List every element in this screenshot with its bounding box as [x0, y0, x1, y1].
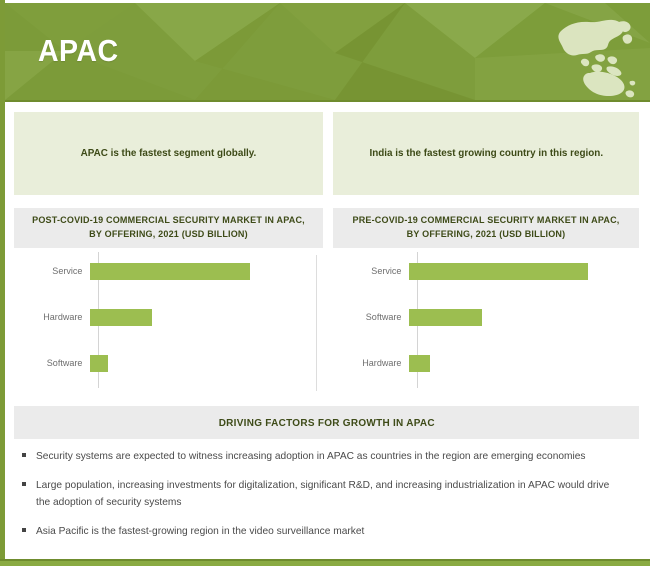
bar-label-service-pre: Service — [337, 266, 409, 277]
bar-row-software: Software — [14, 346, 314, 380]
bar-plot-hardware-pre — [409, 346, 633, 380]
bar-label-hardware-pre: Hardware — [337, 358, 409, 369]
bar-row-hardware: Hardware — [14, 300, 314, 334]
list-item-text: Asia Pacific is the fastest-growing regi… — [36, 523, 621, 539]
bar-row-service: Service — [14, 254, 314, 288]
bar-label-hardware: Hardware — [18, 312, 90, 323]
chart-title-pre-covid: PRE-COVID-19 COMMERCIAL SECURITY MARKET … — [350, 214, 622, 242]
bar-plot-service-pre — [409, 254, 633, 288]
bar-row-service-pre: Service — [333, 254, 633, 288]
frame-bottom-accent — [0, 561, 650, 566]
square-bullet-icon — [22, 482, 26, 486]
bar-service — [90, 263, 250, 280]
driving-factors-list: Security systems are expected to witness… — [14, 448, 639, 552]
bar-plot-software-pre — [409, 300, 633, 334]
list-item: Security systems are expected to witness… — [14, 448, 639, 464]
square-bullet-icon — [22, 453, 26, 457]
bar-label-software: Software — [18, 358, 90, 369]
list-item: Large population, increasing investments… — [14, 477, 639, 510]
list-item-text: Large population, increasing investments… — [36, 477, 621, 510]
bar-software — [90, 355, 108, 372]
list-item: Asia Pacific is the fastest-growing regi… — [14, 523, 639, 539]
bar-software-pre — [409, 309, 482, 326]
list-item-text: Security systems are expected to witness… — [36, 448, 621, 464]
bar-row-software-pre: Software — [333, 300, 633, 334]
chart-title-band-post-covid: POST-COVID-19 COMMERCIAL SECURITY MARKET… — [14, 208, 323, 248]
infographic-page: APAC APAC is the fastest segment globall… — [0, 0, 650, 566]
bar-plot-hardware — [90, 300, 314, 334]
driving-factors-band: DRIVING FACTORS FOR GROWTH IN APAC — [14, 406, 639, 439]
bar-service-pre — [409, 263, 588, 280]
bar-label-software-pre: Software — [337, 312, 409, 323]
callout-box-apac: APAC is the fastest segment globally. — [14, 112, 323, 195]
driving-factors-heading: DRIVING FACTORS FOR GROWTH IN APAC — [218, 417, 434, 429]
banner-underline — [5, 100, 650, 102]
chart-title-band-pre-covid: PRE-COVID-19 COMMERCIAL SECURITY MARKET … — [333, 208, 639, 248]
chart-post-covid: Service Hardware Software — [14, 252, 314, 392]
chart-title-post-covid: POST-COVID-19 COMMERCIAL SECURITY MARKET… — [31, 214, 306, 242]
bar-plot-service — [90, 254, 314, 288]
bar-label-service: Service — [18, 266, 90, 277]
callout-text-apac: APAC is the fastest segment globally. — [81, 147, 257, 161]
chart-pre-covid: Service Software Hardware — [333, 252, 633, 392]
callout-row: APAC is the fastest segment globally. In… — [14, 112, 639, 195]
bar-hardware-pre — [409, 355, 430, 372]
page-title: APAC — [38, 33, 119, 69]
square-bullet-icon — [22, 528, 26, 532]
callout-box-india: India is the fastest growing country in … — [333, 112, 639, 195]
header-banner: APAC — [5, 3, 650, 100]
callout-text-india: India is the fastest growing country in … — [369, 147, 603, 161]
bar-row-hardware-pre: Hardware — [333, 346, 633, 380]
bar-plot-software — [90, 346, 314, 380]
chart-panel-divider — [316, 255, 317, 391]
bar-hardware — [90, 309, 152, 326]
